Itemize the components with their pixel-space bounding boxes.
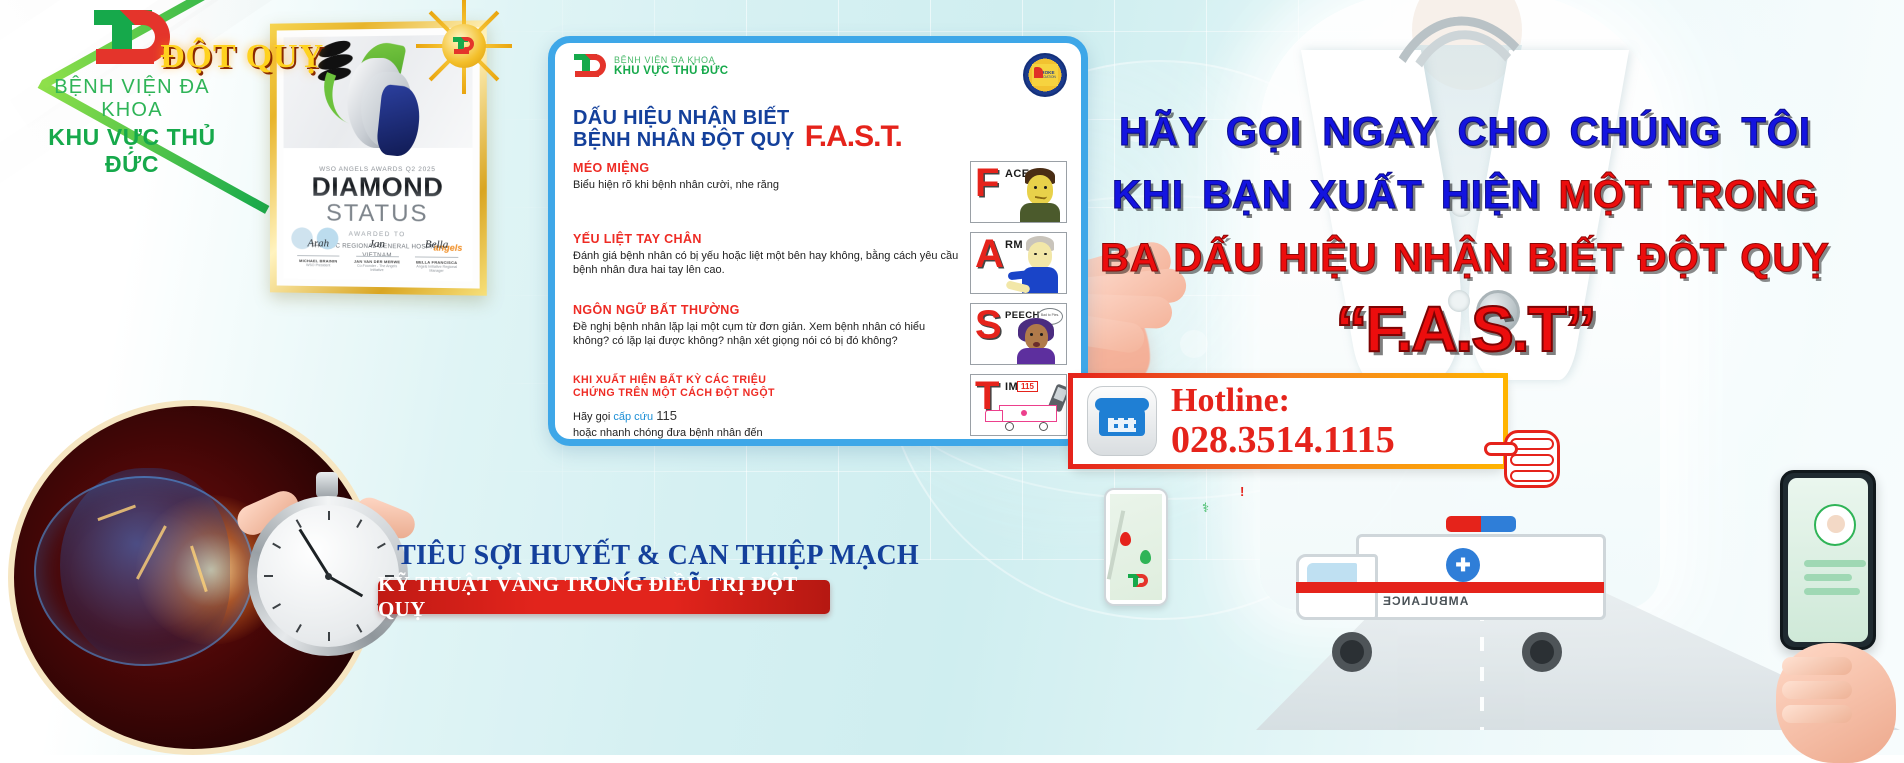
headline-fast-quote: “F.A.S.T”: [1035, 292, 1895, 366]
main-headline: HÃY GỌI NGAY CHO CHÚNG TÔI KHI BẠN XUẤT …: [1035, 112, 1895, 366]
gold-starburst-icon: [416, 0, 512, 96]
signature-scribble: Bella: [411, 238, 462, 255]
alert-sprite-icon: !: [1240, 484, 1244, 499]
fast-letter: F: [975, 165, 999, 202]
telephone-icon: [1087, 386, 1157, 456]
emergency-number-badge: 115: [1017, 381, 1038, 392]
map-phone-icon: [1104, 488, 1168, 606]
headline-line-2-blue: KHI BẠN XUẤT HIỆN: [1112, 173, 1540, 217]
map-pin-green-icon: [1140, 550, 1151, 564]
signature-block: Jan JAN VAN DER MERWE Co-Founder - The A…: [352, 238, 403, 273]
hospital-td-logo-icon: [573, 53, 607, 79]
signature-scribble: Arah: [293, 237, 343, 253]
fast-letter: A: [975, 236, 1004, 273]
fast-item-heading: MÉO MIỆNG: [573, 161, 960, 175]
card-title-line1: DẤU HIỆU NHẬN BIẾT: [573, 107, 795, 129]
holding-hand-illustration: [1776, 643, 1896, 763]
star-of-life-icon: ✚: [1446, 548, 1480, 582]
signature-block: Bella BELLA FRANCISCA Angels Initiative …: [411, 238, 462, 273]
ambulance-icon: [985, 405, 1057, 431]
hospital-name-line1: BỆNH VIỆN ĐA KHOA: [22, 76, 242, 122]
ambulance-illustration: ✚ AMBULANCE: [1296, 524, 1626, 674]
fast-item-body: Đánh giá bệnh nhân có bị yếu hoặc liệt m…: [573, 249, 960, 278]
avatar: [1814, 504, 1856, 546]
card-title-line2: BỆNH NHÂN ĐỘT QUỴ: [573, 129, 795, 151]
ambulance-time-icon: T IME 115: [970, 374, 1067, 436]
fast-letter: S: [975, 307, 1002, 344]
headline-line-3: BA DẤU HIỆU NHẬN BIẾT ĐỘT QUỴ: [1035, 238, 1895, 279]
signature-role: WSO President: [293, 263, 343, 268]
bottom-right-scene: ⚕ ! ✚ AMBULANCE: [1090, 470, 1900, 755]
card-hospital-line2: KHU VỰC THỦ ĐỨC: [614, 65, 728, 77]
time-body-highlight: cấp cứu: [613, 411, 653, 423]
time-body-number: 115: [656, 408, 677, 423]
certificate-status: STATUS: [284, 201, 473, 227]
ambulance-word: AMBULANCE: [1382, 594, 1468, 608]
card-hospital-logo: BỆNH VIỆN ĐA KHOA KHU VỰC THỦ ĐỨC: [573, 53, 728, 79]
fast-item-heading: NGÔN NGỮ BẤT THƯỜNG: [573, 303, 960, 317]
fast-item-heading-line2: CHỨNG TRÊN MỘT CÁCH ĐỘT NGỘT: [573, 387, 960, 401]
time-body-prefix: Hãy gọi: [573, 411, 613, 423]
signature-scribble: Jan: [352, 238, 403, 255]
signature-role: Angels Initiative Regional Manager: [411, 264, 462, 273]
signature-block: Arah MICHAEL BRAININ WSO President: [293, 237, 343, 271]
signature-role: Co-Founder - The Angels Initiative: [352, 264, 403, 273]
fast-item-heading: YẾU LIỆT TAY CHÂN: [573, 232, 960, 246]
fast-item-time: KHI XUẤT HIỆN BẤT KỲ CÁC TRIỆU CHỨNG TRÊ…: [573, 374, 1067, 440]
card-hospital-line1: BỆNH VIỆN ĐA KHOA: [614, 55, 728, 65]
card-title: DẤU HIỆU NHẬN BIẾT BỆNH NHÂN ĐỘT QUỴ: [573, 107, 795, 152]
hospital-name-line2: KHU VỰC THỦ ĐỨC: [22, 124, 242, 178]
certificate-signatures: Arah MICHAEL BRAININ WSO President Jan J…: [293, 237, 462, 273]
stethoscope-sprite-icon: ⚕: [1202, 500, 1209, 516]
bottom-band-text: KỸ THUẬT VÀNG TRONG ĐIỀU TRỊ ĐỘT QUỴ: [378, 572, 830, 622]
headline-line-1: HÃY GỌI NGAY CHO CHÚNG TÔI: [1035, 112, 1895, 153]
fast-item-speech: NGÔN NGỮ BẤT THƯỜNG Đề nghị bệnh nhân lặ…: [573, 303, 1067, 365]
fast-item-heading-line1: KHI XUẤT HIỆN BẤT KỲ CÁC TRIỆU: [573, 374, 960, 388]
hospital-td-logo-icon: [1128, 574, 1150, 590]
hotline-number[interactable]: 028.3514.1115: [1171, 421, 1395, 459]
fast-item-body: Đề nghị bệnh nhân lặp lại một cụm từ đơn…: [573, 320, 960, 349]
hotline-label: Hotline:: [1171, 384, 1395, 418]
fast-signs-card: BỆNH VIỆN ĐA KHOA KHU VỰC THỦ ĐỨC STROKE…: [548, 36, 1088, 446]
stroke-circle-label: ĐỘT QUỴ: [160, 38, 324, 76]
fast-item-arm: YẾU LIỆT TAY CHÂN Đánh giá bệnh nhân có …: [573, 232, 1067, 294]
hospital-logo-block: BỆNH VIỆN ĐA KHOA KHU VỰC THỦ ĐỨC: [22, 6, 242, 178]
map-pin-red-icon: [1120, 532, 1131, 546]
certificate-level: DIAMOND: [284, 173, 473, 202]
stroke-association-badge-icon: STROKE ASSOCIATION: [1023, 53, 1067, 97]
headline-line-2-red: MỘT TRONG: [1559, 173, 1818, 217]
headline-line-2: KHI BẠN XUẤT HIỆN MỘT TRONG: [1035, 175, 1895, 216]
fast-item-face: MÉO MIỆNG Biểu hiện rõ khi bệnh nhân cườ…: [573, 161, 1067, 223]
time-body-line2: hoặc nhanh chóng đưa bệnh nhân đến: [573, 426, 960, 441]
fast-item-body: Biểu hiện rõ khi bệnh nhân cười, nhe răn…: [573, 178, 960, 193]
card-fast-acronym: F.A.S.T.: [805, 122, 902, 152]
hotline-box[interactable]: Hotline: 028.3514.1115: [1068, 373, 1508, 469]
video-call-phone-icon: [1780, 470, 1876, 650]
bottom-band: KỸ THUẬT VÀNG TRONG ĐIỀU TRỊ ĐỘT QUỴ: [378, 580, 830, 614]
